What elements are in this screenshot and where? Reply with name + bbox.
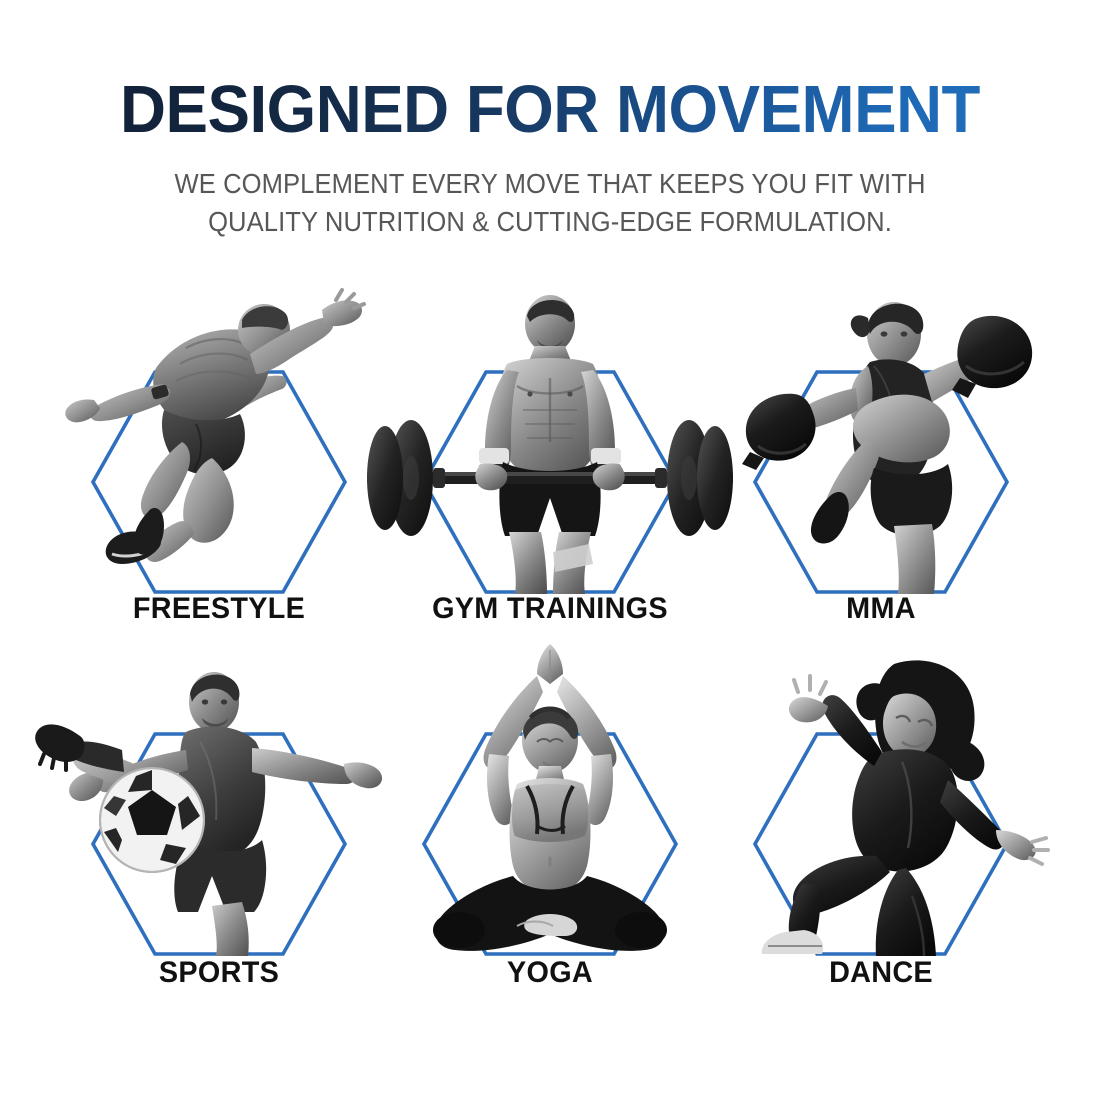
activity-label-dance: DANCE — [705, 956, 1056, 990]
activity-card-mma[interactable]: MMA — [698, 282, 1064, 652]
hexagon-frame-sports — [91, 732, 347, 956]
activity-label-gym-trainings: GYM TRAININGS — [374, 592, 725, 626]
activity-label-mma: MMA — [705, 592, 1056, 626]
hexagon-frame-dance — [753, 732, 1009, 956]
activity-grid: FREESTYLE — [0, 282, 1100, 1042]
hexagon-frame-mma — [753, 370, 1009, 594]
activity-card-sports[interactable]: SPORTS — [36, 644, 402, 1014]
hexagon-frame-freestyle — [91, 370, 347, 594]
page-title: DESIGNED FOR MOVEMENT — [28, 76, 1073, 143]
activity-card-dance[interactable]: DANCE — [698, 644, 1064, 1014]
page-subtitle: WE COMPLEMENT EVERY MOVE THAT KEEPS YOU … — [39, 165, 1062, 241]
page-subtitle-line-2: QUALITY NUTRITION & CUTTING-EDGE FORMULA… — [39, 203, 1062, 241]
activity-card-freestyle[interactable]: FREESTYLE — [36, 282, 402, 652]
activity-label-freestyle: FREESTYLE — [43, 592, 394, 626]
activity-card-gym-trainings[interactable]: GYM TRAININGS — [367, 282, 733, 652]
header: DESIGNED FOR MOVEMENT WE COMPLEMENT EVER… — [0, 0, 1100, 241]
hexagon-frame-yoga — [422, 732, 678, 956]
activity-label-yoga: YOGA — [374, 956, 725, 990]
page-subtitle-line-1: WE COMPLEMENT EVERY MOVE THAT KEEPS YOU … — [39, 165, 1062, 203]
activity-card-yoga[interactable]: YOGA — [367, 644, 733, 1014]
hexagon-frame-gym-trainings — [422, 370, 678, 594]
activity-label-sports: SPORTS — [43, 956, 394, 990]
